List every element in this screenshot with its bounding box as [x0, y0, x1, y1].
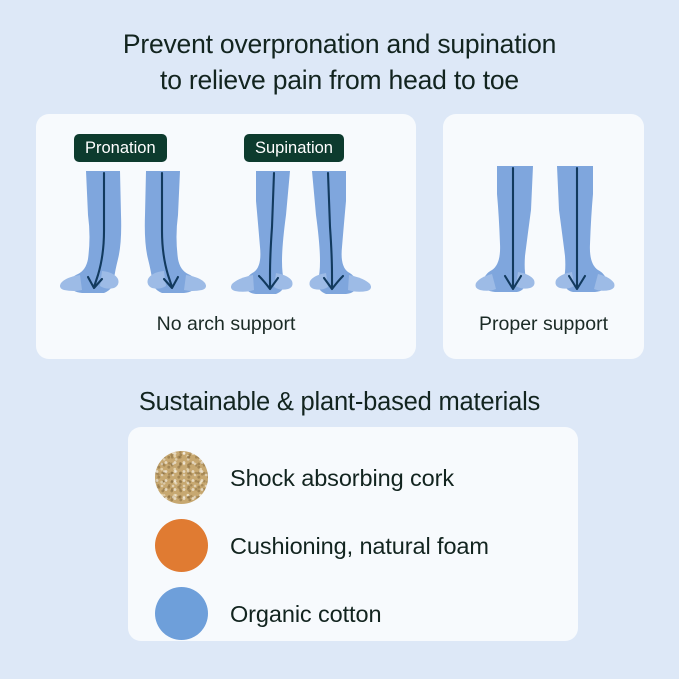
gait-comparison-card: Pronation Supination	[36, 114, 416, 359]
list-item: Cushioning, natural foam	[155, 519, 489, 572]
proper-support-legs-illustration	[475, 166, 615, 311]
supination-leg-right	[310, 171, 372, 294]
proper-leg-left	[476, 166, 535, 292]
pronation-leg-left	[60, 171, 121, 293]
foam-swatch	[155, 519, 208, 572]
headline-line-2: to relieve pain from head to toe	[0, 62, 679, 98]
page-title: Prevent overpronation and supination to …	[0, 26, 679, 98]
proper-leg-right	[556, 166, 615, 292]
badge-supination-label: Supination	[255, 139, 333, 157]
badge-supination: Supination	[244, 134, 344, 162]
badge-pronation-label: Pronation	[85, 139, 156, 157]
materials-heading: Sustainable & plant-based materials	[0, 386, 679, 418]
headline-line-1: Prevent overpronation and supination	[123, 29, 556, 59]
badge-pronation: Pronation	[74, 134, 167, 162]
proper-support-caption: Proper support	[443, 312, 644, 336]
cotton-swatch	[155, 587, 208, 640]
list-item: Shock absorbing cork	[155, 451, 454, 504]
materials-card: Shock absorbing cork Cushioning, natural…	[128, 427, 578, 641]
pronation-legs-illustration	[58, 171, 208, 311]
proper-support-card: Proper support	[443, 114, 644, 359]
material-label: Cushioning, natural foam	[230, 532, 489, 560]
cork-swatch	[155, 451, 208, 504]
pronation-leg-right	[145, 171, 206, 293]
list-item: Organic cotton	[155, 587, 381, 640]
supination-leg-left	[231, 171, 293, 294]
material-label: Shock absorbing cork	[230, 464, 454, 492]
supination-legs-illustration	[226, 171, 376, 311]
material-label: Organic cotton	[230, 600, 381, 628]
gait-card-caption: No arch support	[36, 312, 416, 336]
infographic-page: Prevent overpronation and supination to …	[0, 0, 679, 679]
